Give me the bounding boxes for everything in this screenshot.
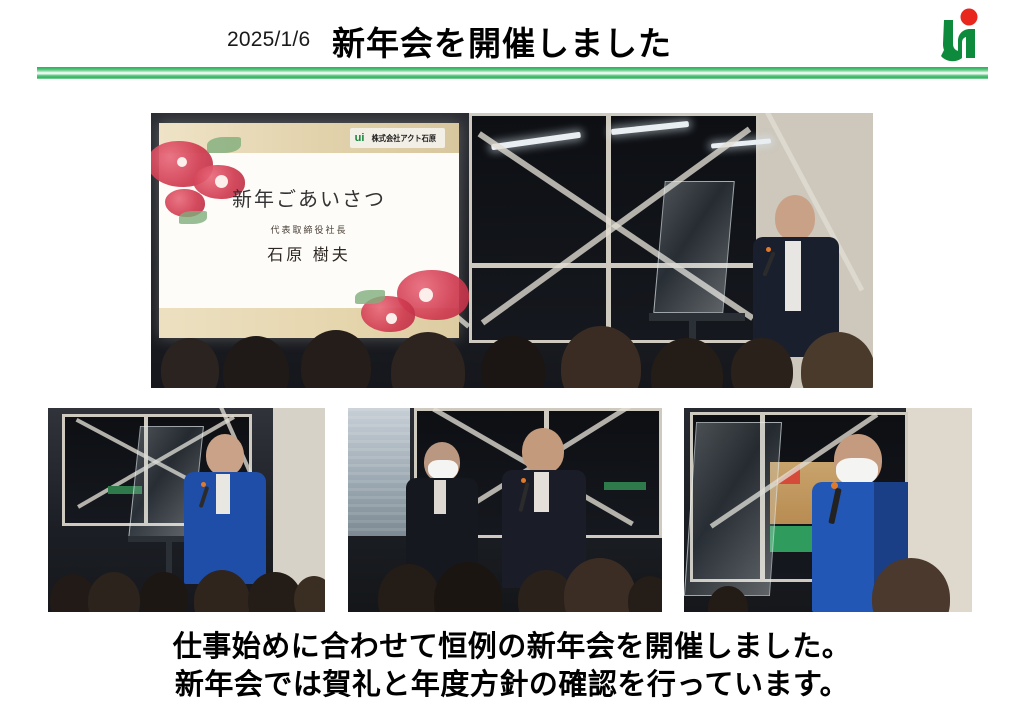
caption-line-1: 仕事始めに合わせて恒例の新年会を開催しました。 bbox=[0, 628, 1024, 666]
header-divider bbox=[37, 67, 988, 79]
slide-page: 2025/1/6 新年会を開催しました ui bbox=[0, 0, 1024, 724]
page-title: 新年会を開催しました bbox=[332, 17, 672, 65]
slide-presenter-name: 石原 樹夫 bbox=[159, 241, 459, 265]
caption-text: 仕事始めに合わせて恒例の新年会を開催しました。 新年会では賀礼と年度方針の確認を… bbox=[0, 628, 1024, 705]
company-logo-icon bbox=[928, 8, 990, 64]
thumbnail-photo-2 bbox=[348, 408, 662, 612]
caption-line-2: 新年会では賀礼と年度方針の確認を行っています。 bbox=[0, 666, 1024, 704]
main-photo: ui 株式会社アクト石原 新年ごあいさつ 代表取締役社長 石原 樹夫 bbox=[151, 113, 873, 388]
slide-company-logo: ui 株式会社アクト石原 bbox=[350, 128, 445, 148]
slide-company-name: 株式会社アクト石原 bbox=[372, 133, 436, 144]
thumbnail-photo-1 bbox=[48, 408, 325, 612]
slide-logo-mark: ui bbox=[355, 133, 365, 144]
slide-role: 代表取締役社長 bbox=[159, 223, 459, 236]
thumbnail-photo-3 bbox=[684, 408, 972, 612]
slide-title: 新年ごあいさつ bbox=[159, 183, 459, 212]
event-date: 2025/1/6 bbox=[227, 28, 310, 52]
